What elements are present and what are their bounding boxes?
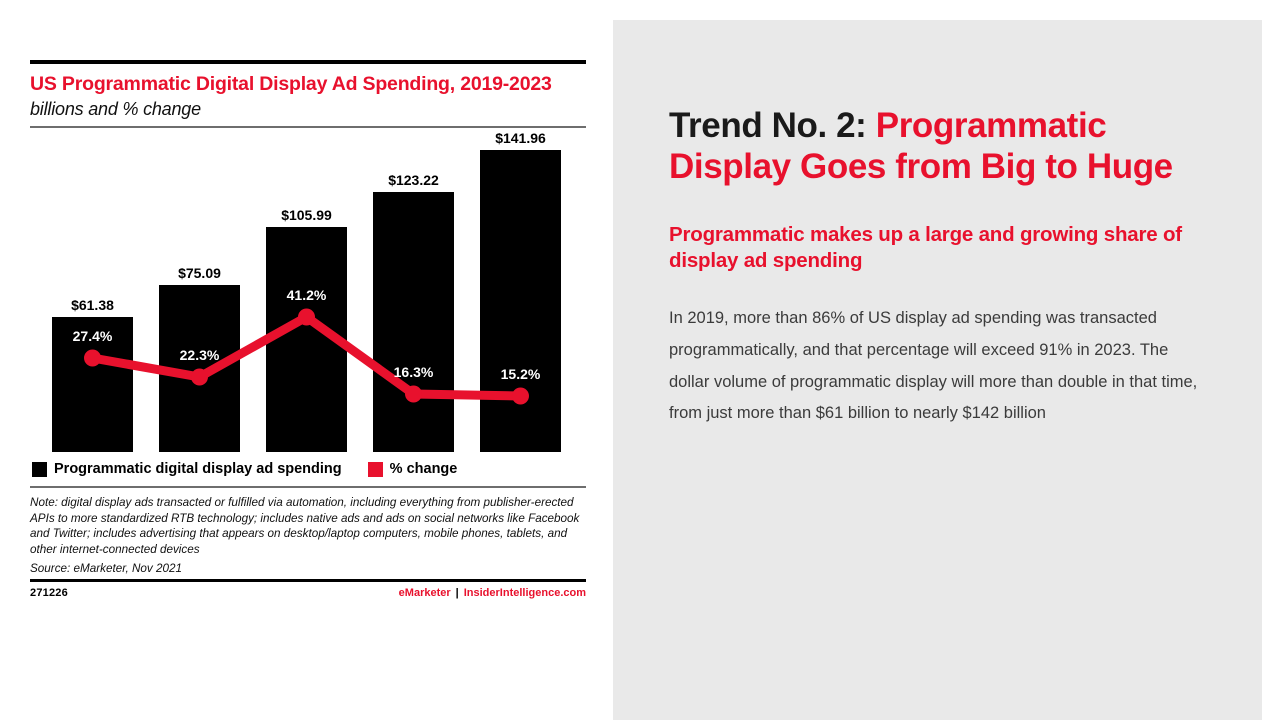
bar-value-2021: $105.99 [281,207,332,223]
chart-note: Note: digital display ads transacted or … [30,488,586,561]
legend-label-pct-change: % change [390,461,458,477]
pct-value-2019: 27.4% [73,328,113,344]
brand-emarketer: eMarketer [399,587,451,599]
brand-lockup: eMarketer | InsiderIntelligence.com [399,587,586,599]
chart-legend: Programmatic digital display ad spending… [30,452,586,486]
black-square-swatch-icon [32,462,47,477]
chart-plot-area: $61.38 $75.09 $105.99 $123.22 $141.96 [30,132,586,452]
header-divider-rule [30,126,586,128]
pct-value-2020: 22.3% [180,347,220,363]
pct-value-2021: 41.2% [287,287,327,303]
bar-value-2022: $123.22 [388,172,439,188]
bar-value-2020: $75.09 [178,265,221,281]
bar-2022 [373,192,454,452]
marker-2019 [84,350,101,367]
emarketer-chart-card: US Programmatic Digital Display Ad Spend… [30,60,586,645]
legend-item-pct-change: % change [368,461,458,477]
chart-source: Source: eMarketer, Nov 2021 [30,562,586,579]
chart-title: US Programmatic Digital Display Ad Spend… [30,73,586,96]
chart-canvas: $61.38 $75.09 $105.99 $123.22 $141.96 [30,132,586,452]
slide-content: Trend No. 2: Programmatic Display Goes f… [613,20,1262,430]
bar-value-2019: $61.38 [71,297,114,313]
chart-header: US Programmatic Digital Display Ad Spend… [30,64,586,126]
chart-footer: 271226 eMarketer | InsiderIntelligence.c… [30,582,586,599]
brand-separator: | [456,587,459,599]
chart-id-number: 271226 [30,587,68,599]
brand-website[interactable]: InsiderIntelligence.com [464,587,586,599]
red-square-swatch-icon [368,462,383,477]
chart-svg: $61.38 $75.09 $105.99 $123.22 $141.96 [30,132,586,452]
chart-subtitle: billions and % change [30,96,586,121]
legend-label-spending: Programmatic digital display ad spending [54,461,342,477]
marker-2020 [191,369,208,386]
bar-value-2023: $141.96 [495,132,546,146]
pct-value-2023: 15.2% [501,366,541,382]
slide-panel: Trend No. 2: Programmatic Display Goes f… [613,20,1262,720]
slide-title-prefix: Trend No. 2: [669,106,876,145]
slide-body-text: In 2019, more than 86% of US display ad … [669,303,1207,430]
slide-title: Trend No. 2: Programmatic Display Goes f… [669,106,1207,188]
pct-value-2022: 16.3% [394,364,434,380]
slide-subheading: Programmatic makes up a large and growin… [669,222,1207,274]
marker-2021 [298,309,315,326]
marker-2023 [512,388,529,405]
bar-2023 [480,150,561,452]
marker-2022 [405,386,422,403]
legend-item-spending: Programmatic digital display ad spending [32,461,342,477]
